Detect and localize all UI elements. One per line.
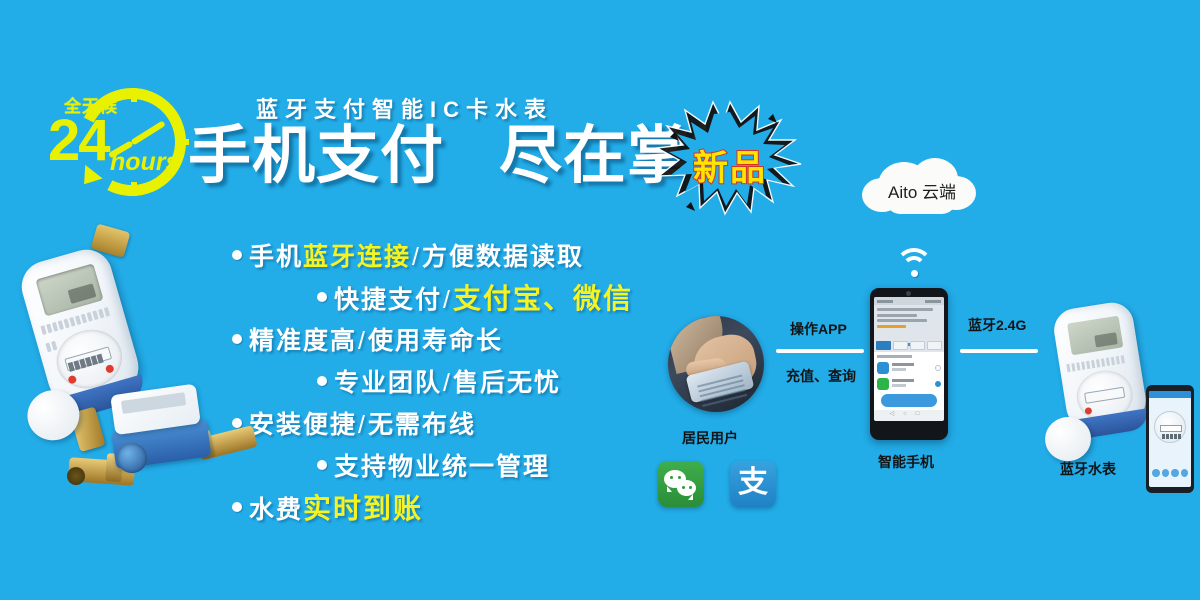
feature-plain: 安装便捷 <box>249 411 357 439</box>
bluetooth-label: 蓝牙2.4G <box>968 315 1026 335</box>
payment-method-list <box>874 352 944 410</box>
feature-text: 精准度高/使用寿命长 <box>249 321 503 357</box>
list-item: 手机蓝牙连接/方便数据读取 <box>232 234 702 276</box>
feature-text: 安装便捷/无需布线 <box>249 405 476 441</box>
feature-highlight: 实时到账 <box>303 493 423 524</box>
meter-label: 蓝牙水表 <box>1060 459 1116 479</box>
mini-dial-window <box>1160 425 1182 432</box>
dial-red-pointer-left <box>67 375 77 385</box>
mini-button-row <box>1152 469 1188 477</box>
list-item: 精准度高/使用寿命长 <box>232 318 702 360</box>
list-item: 专业团队/售后无忧 <box>317 360 702 402</box>
feature-separator: / <box>357 411 368 439</box>
promotional-banner: 全天候 24 hours 蓝牙支付智能IC卡水表 手机支付 尽在掌握 新品 手机… <box>0 0 1200 600</box>
list-item <box>877 362 941 374</box>
connector-line-left <box>776 349 864 353</box>
bullet-dot-icon <box>317 376 327 386</box>
new-product-label: 新品 <box>655 140 805 191</box>
banner-subtitle: 蓝牙支付智能IC卡水表 <box>256 92 553 124</box>
wifi-dot <box>911 270 918 277</box>
payment-icons-group: 支 <box>658 461 788 509</box>
connector-line-right <box>960 349 1038 353</box>
alipay-icon <box>877 362 889 374</box>
hand-holding-phone-photo <box>668 316 764 412</box>
list-item: 安装便捷/无需布线 <box>232 402 702 444</box>
bullet-dot-icon <box>317 292 327 302</box>
feature-list: 手机蓝牙连接/方便数据读取 快捷支付/支付宝、微信 精准度高/使用寿命长 专业团… <box>232 234 702 528</box>
radio-button[interactable] <box>935 365 941 371</box>
feature-text: 专业团队/售后无忧 <box>334 363 561 399</box>
bullet-dot-icon <box>232 250 242 260</box>
feature-separator: / <box>442 369 453 397</box>
bullet-dot-icon <box>317 460 327 470</box>
cloud-label: Aito 云端 <box>862 178 982 203</box>
feature-text: 支持物业统一管理 <box>334 447 550 483</box>
feature-plain: 快捷支付 <box>334 286 442 314</box>
clock-tick-right <box>175 139 189 145</box>
recharge-query-label: 充值、查询 <box>786 366 856 386</box>
phone-screen: ◁○□ <box>874 297 944 421</box>
app-header-bar <box>874 297 944 305</box>
new-product-badge: 新品 <box>655 98 805 218</box>
bullet-dot-icon <box>232 502 242 512</box>
alipay-icon[interactable]: 支 <box>730 461 776 507</box>
list-item <box>877 378 941 390</box>
feature-tail: 使用寿命长 <box>368 327 503 355</box>
feature-tail: 方便数据读取 <box>422 243 584 271</box>
mini-phone-screen <box>1149 391 1191 487</box>
list-item: 支持物业统一管理 <box>317 444 702 486</box>
user-label: 居民用户 <box>682 428 738 448</box>
list-item-text <box>892 379 932 389</box>
feature-plain: 水费 <box>249 496 303 524</box>
meter-pipe-opening <box>66 466 85 485</box>
smartphone-mockup: ◁○□ <box>870 288 948 440</box>
confirm-pay-button[interactable] <box>881 394 937 407</box>
feature-separator: / <box>411 243 422 271</box>
feature-text: 快捷支付/支付宝、微信 <box>334 277 633 317</box>
alipay-glyph: 支 <box>738 468 768 498</box>
feature-tail: 售后无忧 <box>453 369 561 397</box>
list-item-text <box>892 363 932 373</box>
list-item: 快捷支付/支付宝、微信 <box>317 276 702 318</box>
app-operation-label: 操作APP <box>790 319 847 339</box>
dial-red-pointer <box>1084 407 1092 415</box>
android-nav-bar: ◁○□ <box>874 410 944 420</box>
dial-red-pointer-right <box>105 364 115 374</box>
meter-lcd-display <box>1067 316 1123 356</box>
dial-register-window <box>1084 387 1125 404</box>
list-item: 水费实时到账 <box>232 486 702 528</box>
lcd-digits <box>68 283 97 304</box>
wifi-icon <box>895 248 941 282</box>
feature-plain: 手机 <box>249 243 303 271</box>
valve-control-water-meter-image <box>80 377 255 518</box>
bullet-dot-icon <box>232 334 242 344</box>
meter-cover-label <box>121 392 186 414</box>
radio-button[interactable] <box>935 381 941 387</box>
phone-camera-icon <box>906 291 911 296</box>
feature-text: 手机蓝牙连接/方便数据读取 <box>249 237 584 273</box>
lcd-digits <box>1094 332 1118 347</box>
clock-tick-top <box>131 88 137 102</box>
feature-separator: / <box>357 327 368 355</box>
badge-unit: hours <box>110 148 179 177</box>
wechat-pay-icon <box>877 378 889 390</box>
feature-highlight: 支付宝、微信 <box>453 283 633 314</box>
title-part-1: 手机支付 <box>188 121 444 191</box>
feature-tail: 无需布线 <box>368 411 476 439</box>
feature-plain: 支持物业统一管理 <box>334 453 550 481</box>
smartphone-label: 智能手机 <box>878 452 934 472</box>
badge-number: 24 <box>48 112 109 170</box>
feature-plain: 专业团队 <box>334 369 442 397</box>
meter-reading-phone-mockup <box>1146 385 1194 493</box>
feature-text: 水费实时到账 <box>249 487 423 527</box>
wechat-pay-icon[interactable] <box>658 461 704 507</box>
mini-meter-dial <box>1154 411 1186 443</box>
feature-highlight: 蓝牙连接 <box>303 243 411 271</box>
mini-app-header <box>1149 391 1191 398</box>
clock-24h-icon: 全天候 24 hours <box>48 86 188 204</box>
clock-tick-bottom <box>131 182 137 196</box>
feature-separator: / <box>442 286 453 314</box>
feature-plain: 精准度高 <box>249 327 357 355</box>
cloud-shape: Aito 云端 <box>862 158 982 220</box>
wechat-bubble-small <box>677 480 696 496</box>
list-heading <box>877 355 912 358</box>
device-info-panel <box>874 305 944 333</box>
